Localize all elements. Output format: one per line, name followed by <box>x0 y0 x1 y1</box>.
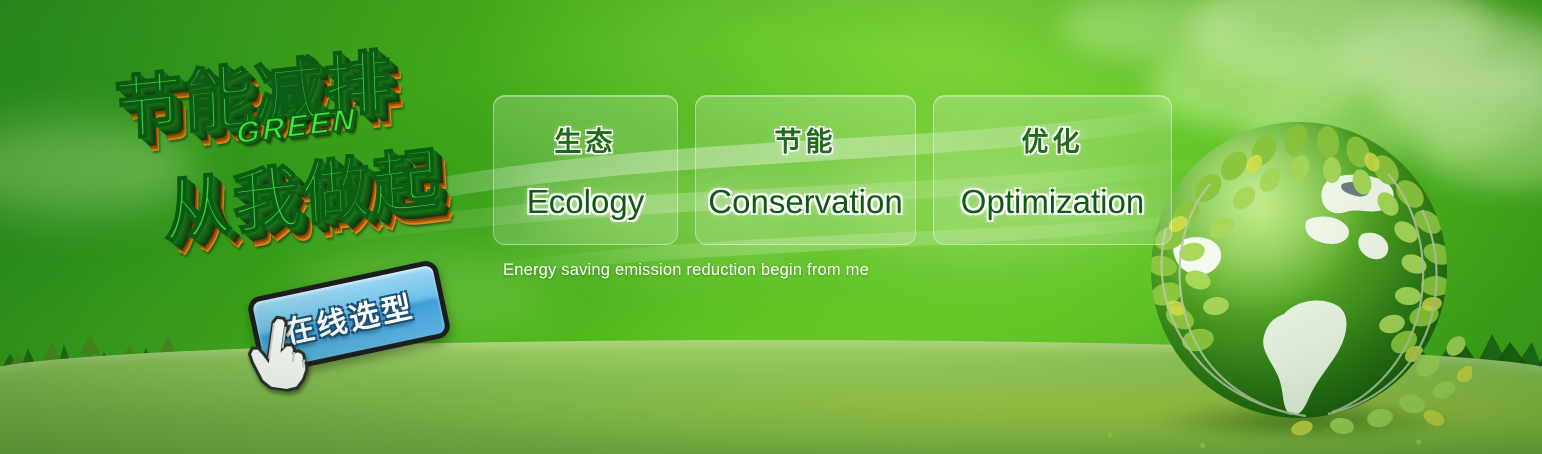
eco-hero-banner: 节能减排 GREEN 从我做起 在线选型 生态 Ecology 节能 Conse… <box>0 0 1542 454</box>
banner-vignette <box>0 0 1542 454</box>
